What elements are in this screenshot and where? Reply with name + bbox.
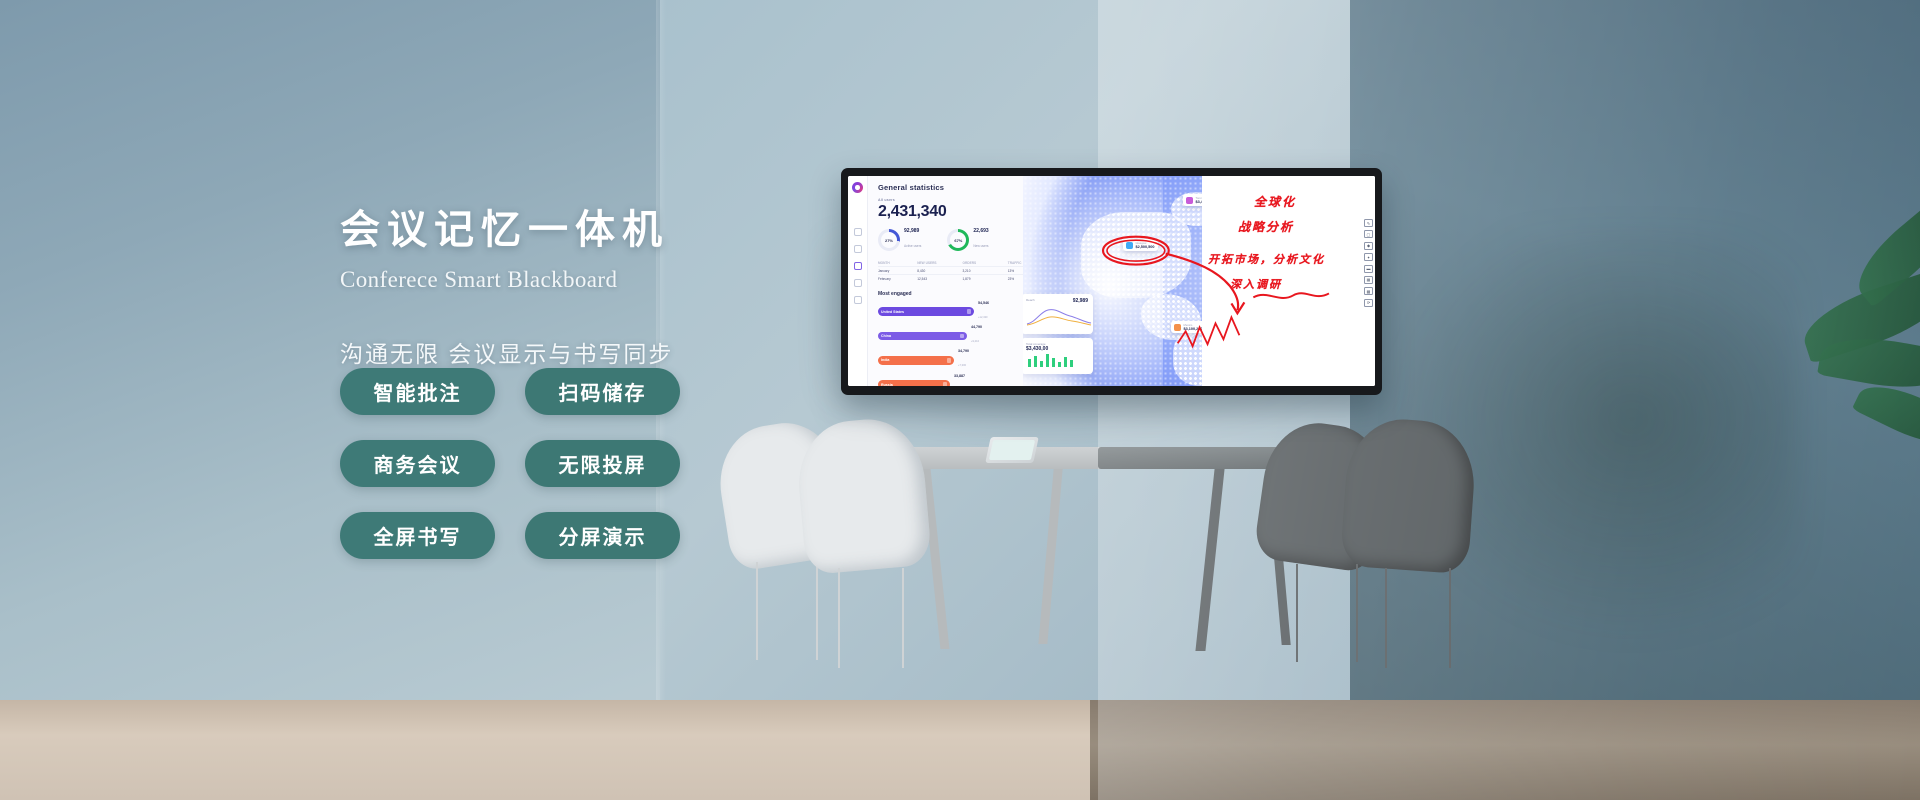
eraser-icon[interactable]: ▢	[1364, 230, 1373, 238]
country-value-group: 44,790+9,210	[971, 325, 982, 347]
country-name: Russia	[881, 383, 893, 386]
map-tip-mexico[interactable]: Mexico$3,100,290	[1171, 321, 1206, 333]
reach-card-title: Reach	[1026, 298, 1035, 302]
analytics-icon[interactable]	[854, 262, 862, 270]
country-name: United States	[881, 310, 904, 314]
map-tip-glasgow[interactable]: Glasgow$2,500,500	[1123, 239, 1158, 251]
annotation-globalization: 全球化	[1254, 193, 1296, 210]
reach-card: Reach 92,989	[1023, 294, 1093, 334]
country-name: China	[881, 334, 891, 338]
blackboard-toolbar: ✎ ▢ ◆ ✦ ▬ ▦ ▩ ⟳	[1364, 219, 1373, 307]
highlighter-icon[interactable]: ▬	[1364, 265, 1373, 273]
app-logo-icon	[852, 182, 863, 193]
col-orders: ORDERS	[963, 261, 1003, 265]
country-value-group: 33,887+6,201	[954, 374, 965, 386]
new-users-ring: 67%	[947, 229, 969, 251]
country-delta: +7,300	[958, 364, 966, 367]
new-users-percent: 67%	[950, 232, 966, 248]
marker-icon[interactable]: ✦	[1364, 253, 1373, 261]
country-name: India	[881, 358, 889, 362]
glasgow-value: $2,500,500	[1136, 245, 1155, 249]
new-users-caption: New users	[973, 244, 988, 248]
active-users-percent: 27%	[881, 232, 897, 248]
save-icon[interactable]: ▦	[1364, 276, 1373, 284]
country-value: 34,790	[958, 349, 969, 353]
mexico-value: $3,100,290	[1184, 327, 1203, 331]
active-users-ring: 27%	[878, 229, 900, 251]
mexico-icon	[1174, 324, 1181, 331]
wallet-icon[interactable]	[854, 279, 862, 287]
share-icon[interactable]: ⟳	[1364, 299, 1373, 307]
country-bar: China	[878, 332, 967, 341]
feature-pill-2[interactable]: 商务会议	[340, 440, 495, 487]
blackboard-screen[interactable]: General statistics All users 2,431,340 2…	[848, 176, 1375, 386]
annotation-strategy: 战略分析	[1238, 218, 1294, 235]
country-value-group: 34,790+7,300	[958, 349, 969, 371]
country-flag-icon	[943, 382, 948, 386]
dashboard-sidebar	[848, 176, 868, 386]
kpi-active-users: 27% 92,989 Active users	[878, 228, 921, 252]
annotation-market: 开拓市场，分析文化	[1208, 251, 1325, 267]
handwriting-canvas[interactable]: 全球化 战略分析 开拓市场，分析文化 深入调研	[1202, 176, 1375, 386]
country-value: 54,546	[978, 301, 989, 305]
page-subtitle: Conferece Smart Blackboard	[340, 267, 860, 293]
country-value-group: 54,546+12,430	[978, 301, 989, 323]
coverage-card: Total coverage $3,430,00	[1023, 338, 1093, 374]
country-flag-icon	[947, 358, 952, 363]
room-scene	[0, 0, 1920, 800]
feature-pill-1[interactable]: 扫码储存	[525, 368, 680, 415]
feature-pill-3[interactable]: 无限投屏	[525, 440, 680, 487]
chair	[1345, 420, 1535, 665]
new-users-value: 22,693	[973, 228, 988, 234]
active-users-caption: Active users	[904, 244, 921, 248]
col-month: MONTH	[878, 261, 912, 265]
coverage-bars	[1026, 352, 1090, 367]
hero-tagline: 沟通无限 会议显示与书写同步	[340, 335, 860, 369]
country-value: 44,790	[971, 325, 982, 329]
shape-icon[interactable]: ◆	[1364, 242, 1373, 250]
feature-pill-0[interactable]: 智能批注	[340, 368, 495, 415]
feature-pill-grid: 智能批注 扫码储存 商务会议 无限投屏 全屏书写 分屏演示	[340, 368, 680, 559]
toronto-icon	[1186, 197, 1193, 204]
floor-shaded	[1090, 700, 1920, 800]
col-new-users: NEW USERS	[917, 261, 957, 265]
country-delta: +12,430	[978, 316, 987, 319]
chair	[800, 420, 990, 665]
reach-sparkline	[1026, 304, 1092, 326]
feature-pill-5[interactable]: 分屏演示	[525, 512, 680, 559]
country-flag-icon	[960, 334, 965, 339]
page-title: 会议记忆一体机	[340, 205, 860, 255]
kpi-new-users: 67% 22,693 New users	[947, 228, 988, 252]
country-bar: India	[878, 356, 954, 365]
country-delta: +9,210	[971, 340, 979, 343]
dashboard-icon[interactable]	[854, 228, 862, 236]
feature-pill-4[interactable]: 全屏书写	[340, 512, 495, 559]
country-bar: Russia	[878, 380, 950, 386]
hero-copy: 会议记忆一体机 Conferece Smart Blackboard 沟通无限 …	[340, 205, 860, 369]
active-users-value: 92,989	[904, 228, 921, 234]
reports-icon[interactable]	[854, 245, 862, 253]
country-value: 33,887	[954, 374, 965, 378]
qr-icon[interactable]: ▩	[1364, 287, 1373, 295]
glasgow-icon	[1126, 242, 1133, 249]
annotation-research: 深入调研	[1230, 276, 1282, 292]
settings-icon[interactable]	[854, 296, 862, 304]
smart-blackboard-device: General statistics All users 2,431,340 2…	[841, 168, 1382, 395]
pen-icon[interactable]: ✎	[1364, 219, 1373, 227]
table-tablet	[985, 437, 1039, 463]
country-bar: United States	[878, 307, 974, 316]
country-flag-icon	[967, 309, 972, 314]
